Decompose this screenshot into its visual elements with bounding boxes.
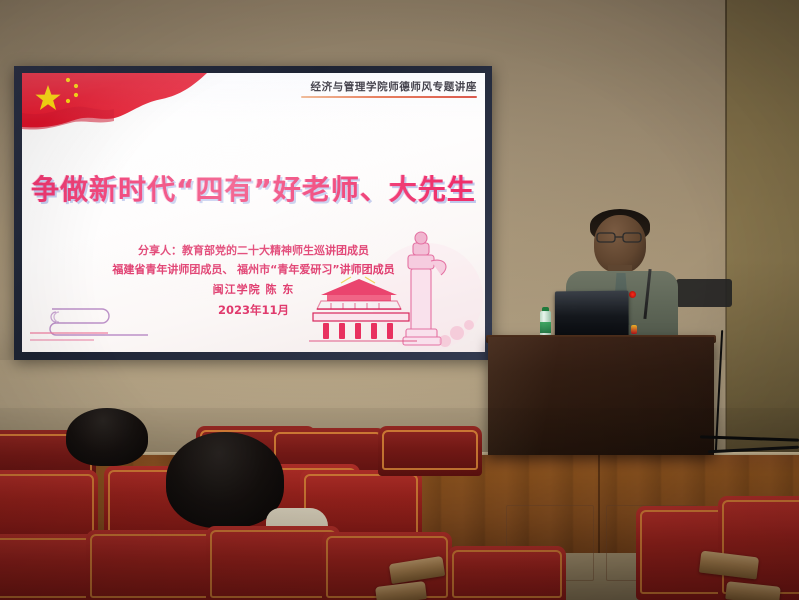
seat [448, 546, 566, 600]
audience-head [166, 432, 284, 528]
glasses-icon [596, 232, 642, 243]
seat [0, 470, 98, 542]
seat [86, 530, 222, 600]
slide-header-text: 经济与管理学院师德师风专题讲座 [301, 81, 477, 94]
seat [206, 526, 340, 600]
slide-header: 经济与管理学院师德师风专题讲座 [301, 81, 477, 98]
projected-slide: 经济与管理学院师德师风专题讲座 争做新时代“四有”好老师、大先生 分享人：教育部… [22, 73, 485, 352]
laptop-screen [555, 291, 629, 338]
party-badge-icon [629, 291, 636, 298]
seat [0, 534, 100, 600]
subtitle-line-4: 2023年11月 [22, 300, 485, 321]
slide-subtitle-block: 分享人：教育部党的二十大精神师生巡讲团成员 福建省青年讲师团成员、 福州市“青年… [22, 241, 485, 321]
slide-title: 争做新时代“四有”好老师、大先生 [22, 168, 485, 208]
lecture-hall-scene: 经济与管理学院师德师风专题讲座 争做新时代“四有”好老师、大先生 分享人：教育部… [0, 0, 799, 600]
slide-header-rule [301, 96, 477, 98]
subtitle-line-3: 闽江学院 陈 东 [22, 279, 485, 300]
projector-screen-frame: 经济与管理学院师德师风专题讲座 争做新时代“四有”好老师、大先生 分享人：教育部… [14, 66, 492, 360]
seat [378, 426, 482, 476]
audience-seating [0, 408, 799, 600]
audience-head [66, 408, 148, 466]
china-flag-icon [22, 73, 207, 135]
chair-back [676, 279, 732, 307]
lapel-pin-icon [631, 325, 637, 334]
subtitle-line-1: 分享人：教育部党的二十大精神师生巡讲团成员 [22, 241, 485, 260]
subtitle-line-2: 福建省青年讲师团成员、 福州市“青年爱研习”讲师团成员 [22, 260, 485, 279]
